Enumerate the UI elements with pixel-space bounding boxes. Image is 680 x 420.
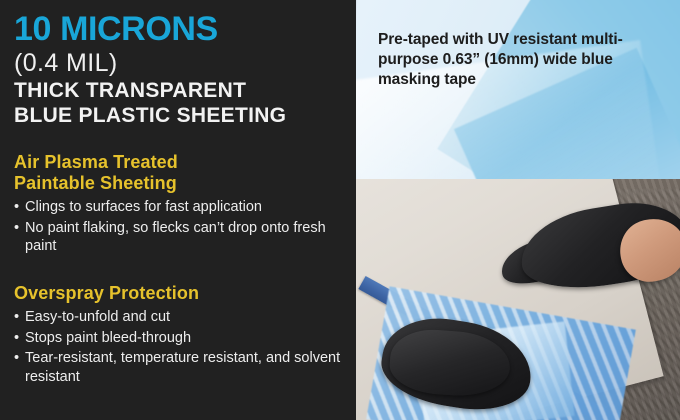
list-item-text: Easy-to-unfold and cut — [25, 309, 170, 325]
photo-sheeting-closeup: Pre-taped with UV resistant multi-purpos… — [356, 0, 680, 179]
feature-bullet-list: • Easy-to-unfold and cut • Stops paint b… — [14, 308, 349, 386]
list-item-text: No paint flaking, so flecks can’t drop o… — [25, 220, 326, 255]
list-item-text: Clings to surfaces for fast application — [25, 199, 262, 215]
headline-thickness-mil: (0.4 MIL) — [14, 48, 344, 78]
list-item: • No paint flaking, so flecks can’t drop… — [14, 219, 349, 256]
headline-thickness: 10 MICRONS — [14, 10, 344, 48]
feature-title-line-2: Paintable Sheeting — [14, 173, 177, 193]
list-item: • Stops paint bleed-through — [14, 329, 349, 348]
feature-bullet-list: • Clings to surfaces for fast applicatio… — [14, 198, 349, 256]
headline-descriptor-line-1: THICK TRANSPARENT — [14, 78, 344, 103]
product-infographic: 10 MICRONS (0.4 MIL) THICK TRANSPARENT B… — [0, 0, 680, 420]
headline-descriptor-line-2: BLUE PLASTIC SHEETING — [14, 103, 344, 128]
feature-block-paintable: Air Plasma Treated Paintable Sheeting • … — [14, 152, 349, 258]
bullet-icon: • — [14, 219, 19, 238]
list-item-text: Tear-resistant, temperature resistant, a… — [25, 350, 340, 385]
feature-title-line-1: Overspray Protection — [14, 283, 199, 303]
bullet-icon: • — [14, 198, 19, 217]
feature-block-overspray: Overspray Protection • Easy-to-unfold an… — [14, 283, 349, 388]
headline-block: 10 MICRONS (0.4 MIL) THICK TRANSPARENT B… — [14, 10, 344, 128]
bullet-icon: • — [14, 329, 19, 348]
bullet-icon: • — [14, 349, 19, 368]
feature-title: Overspray Protection — [14, 283, 349, 304]
list-item-text: Stops paint bleed-through — [25, 330, 191, 346]
feature-title-line-1: Air Plasma Treated — [14, 152, 178, 172]
bullet-icon: • — [14, 308, 19, 327]
list-item: • Clings to surfaces for fast applicatio… — [14, 198, 349, 217]
tape-caption-text: Pre-taped with UV resistant multi-purpos… — [378, 30, 640, 90]
feature-title: Air Plasma Treated Paintable Sheeting — [14, 152, 349, 194]
spec-panel: 10 MICRONS (0.4 MIL) THICK TRANSPARENT B… — [0, 0, 356, 420]
photo-column: Pre-taped with UV resistant multi-purpos… — [356, 0, 680, 420]
photo-application-demo — [356, 179, 680, 420]
list-item: • Tear-resistant, temperature resistant,… — [14, 349, 349, 386]
list-item: • Easy-to-unfold and cut — [14, 308, 349, 327]
